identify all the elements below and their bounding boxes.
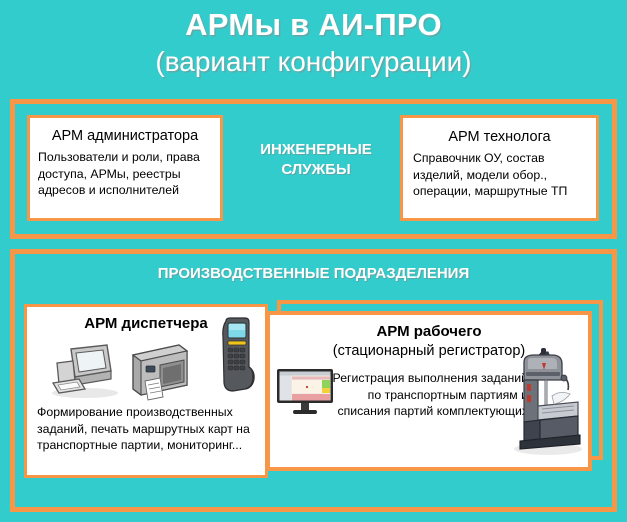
- title-line-1: АРМы в АИ-ПРО: [0, 6, 627, 44]
- card-worker-title: АРМ рабочего: [270, 323, 588, 341]
- card-arm-dispatcher[interactable]: АРМ диспетчера: [24, 304, 268, 478]
- card-technologist-body: Справочник ОУ, состав изделий, модели об…: [413, 150, 588, 200]
- card-technologist-title: АРМ технолога: [403, 128, 596, 146]
- card-worker-body: Регистрация выполнения заданий по трансп…: [332, 370, 528, 420]
- page-title: АРМы в АИ-ПРО (вариант конфигурации): [0, 6, 627, 79]
- handheld-scanner-icon: [213, 317, 257, 397]
- production-units-label: ПРОИЗВОДСТВЕННЫЕ ПОДРАЗДЕЛЕНИЯ: [10, 264, 617, 284]
- engineering-services-label: ИНЖЕНЕРНЫЕ СЛУЖБЫ: [238, 140, 394, 180]
- title-line-2: (вариант конфигурации): [0, 44, 627, 79]
- card-arm-technologist[interactable]: АРМ технолога Справочник ОУ, состав изде…: [400, 115, 599, 221]
- worker-content-row: Регистрация выполнения заданий по трансп…: [270, 364, 588, 464]
- card-admin-title: АРМ администратора: [30, 127, 220, 145]
- card-dispatcher-body: Формирование производственных заданий, п…: [37, 404, 259, 454]
- monitor-icon: [276, 368, 334, 416]
- engineering-services-label-line-1: ИНЖЕНЕРНЫЕ: [238, 140, 394, 160]
- label-printer-icon: [127, 339, 191, 401]
- card-admin-body: Пользователи и роли, права доступа, АРМы…: [38, 149, 214, 199]
- card-arm-administrator[interactable]: АРМ администратора Пользователи и роли, …: [27, 115, 223, 221]
- desktop-computer-icon: [49, 341, 121, 399]
- card-arm-worker[interactable]: АРМ рабочего (стационарный регистратор) …: [266, 311, 592, 471]
- dispatcher-icon-group: [27, 335, 265, 401]
- engineering-services-label-line-2: СЛУЖБЫ: [238, 160, 394, 180]
- band-saw-machine-icon: [508, 346, 584, 458]
